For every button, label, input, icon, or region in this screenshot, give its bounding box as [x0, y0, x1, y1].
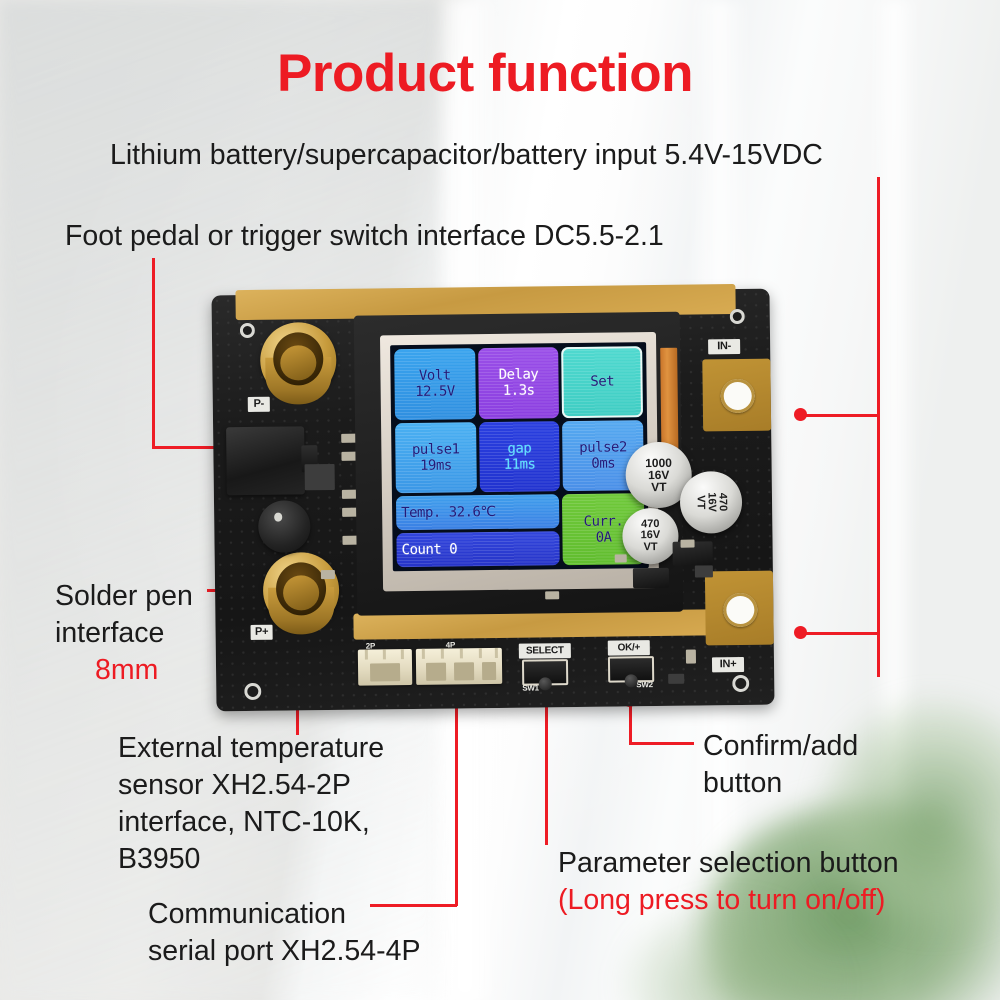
solder-pen-jack-positive[interactable] [263, 552, 340, 629]
annotation-temperature-sensor: External temperature sensor XH2.54-2P in… [118, 730, 384, 878]
silk-label-in-minus: IN- [708, 339, 740, 354]
jst-tooth [365, 650, 368, 660]
pcb-board: P- P+ IN- IN+ 2P 4P SW1 SW2 [211, 289, 774, 712]
jst-slot [454, 663, 474, 681]
lcd-cell-pulse1[interactable]: pulse1 19ms [395, 422, 477, 494]
lcd-row-1: Volt 12.5V Delay 1.3s Set [394, 346, 643, 420]
smd-part-b [615, 554, 627, 562]
jst-tooth [383, 649, 386, 659]
smd-part-f [668, 674, 684, 684]
mount-hole-bottom-left [244, 683, 261, 700]
leader-input-voltage-branch-bottom [800, 632, 879, 635]
lcd-cell-set[interactable]: Set [561, 346, 643, 418]
jst-slot [426, 663, 446, 681]
infographic-canvas: Product function Lithium battery/superca… [0, 0, 1000, 1000]
lcd-cell-pulse1-label: pulse1 [412, 441, 460, 458]
leader-input-voltage-vertical [877, 177, 880, 677]
capacitor-1000uf-label: 1000 16V VT [645, 456, 672, 493]
jst-tooth [422, 649, 425, 659]
jst-tooth [441, 649, 444, 659]
silk-label-p-minus: P- [248, 397, 270, 412]
mount-hole-bottom-right [732, 675, 749, 692]
jst-tooth [479, 648, 482, 658]
lcd-screen[interactable]: Volt 12.5V Delay 1.3s Set pulse1 19ms [390, 342, 649, 571]
leader-ok-horizontal [629, 742, 694, 745]
lcd-cell-volt-value: 12.5V [415, 384, 455, 400]
lcd-cell-pulse2-value: 0ms [591, 456, 615, 472]
leader-dot-in-plus [794, 626, 807, 639]
lcd-cell-gap[interactable]: gap 11ms [479, 421, 561, 493]
select-button[interactable] [522, 659, 568, 686]
leader-foot-pedal-vertical [152, 258, 155, 448]
mount-hole-top-left [240, 323, 255, 338]
jst-tooth [401, 649, 404, 659]
lcd-cell-temp[interactable]: Temp. 32.6℃ [396, 495, 560, 531]
lcd-cell-gap-label: gap [507, 441, 531, 457]
pad-hole-in-minus [721, 379, 755, 413]
leader-dot-in-minus [794, 408, 807, 421]
capacitor-470uf-a-label: 470 16V VT [640, 519, 660, 553]
smd-resistor-6 [321, 570, 335, 579]
lcd-cell-pulse1-value: 19ms [420, 458, 452, 474]
mount-hole-top-right [730, 309, 745, 324]
communication-connector-4p[interactable] [416, 648, 502, 685]
annotation-input-voltage: Lithium battery/supercapacitor/battery i… [110, 137, 823, 174]
capacitor-470uf-b-label: 470 16V VT [694, 492, 728, 512]
annotation-parameter-button: Parameter selection button [558, 845, 899, 882]
smd-part-c [695, 565, 713, 577]
lcd-cell-volt[interactable]: Volt 12.5V [394, 348, 476, 420]
annotation-solder-pen-line2: interface [55, 615, 164, 652]
annotation-communication: Communication serial port XH2.54-4P [148, 896, 420, 970]
lcd-cell-count-label: Count 0 [402, 542, 458, 559]
page-title: Product function [277, 43, 693, 104]
lcd-cell-pulse2-label: pulse2 [579, 439, 627, 456]
dc-jack-pad [305, 464, 335, 490]
smd-part-a [680, 540, 694, 548]
ok-add-button[interactable] [608, 656, 654, 683]
smd-part-e [686, 650, 696, 664]
solder-pen-jack-negative[interactable] [260, 322, 337, 399]
annotation-confirm-button: Confirm/add button [703, 728, 858, 802]
select-button-plunger[interactable] [539, 677, 552, 690]
jst-slot [482, 662, 496, 679]
lcd-cell-current-value: 0A [596, 529, 612, 545]
lcd-cell-delay-label: Delay [499, 367, 539, 383]
leader-input-voltage-branch-top [800, 414, 879, 417]
leader-select-vertical [545, 700, 548, 845]
annotation-solder-pen-size: 8mm [95, 652, 158, 689]
silk-label-ok: OK/+ [608, 640, 650, 656]
jack-bore-inner [280, 345, 317, 380]
lcd-cell-delay[interactable]: Delay 1.3s [478, 347, 560, 419]
jst-slot [370, 664, 400, 682]
annotation-foot-pedal: Foot pedal or trigger switch interface D… [65, 218, 664, 255]
jst-tooth [495, 648, 498, 658]
annotation-solder-pen-line1: Solder pen [55, 578, 193, 615]
lcd-cell-temp-label: Temp. 32.6℃ [401, 504, 496, 521]
jack-bore-inner [283, 575, 320, 610]
lcd-cell-volt-label: Volt [419, 368, 451, 384]
lcd-cell-delay-value: 1.3s [503, 383, 535, 399]
lcd-cell-count[interactable]: Count 0 [396, 531, 560, 567]
temperature-sensor-connector-2p[interactable] [358, 649, 412, 686]
mosfet-2 [633, 568, 669, 588]
dc-barrel-jack[interactable] [226, 426, 305, 495]
buzzer-vent [274, 513, 282, 521]
smd-part-d [545, 591, 559, 599]
leader-comm-horizontal [370, 904, 457, 907]
lcd-cell-current-label: Curr. [584, 513, 624, 529]
lcd-row-2: pulse1 19ms gap 11ms pulse2 0ms [395, 420, 644, 494]
lcd-cell-gap-value: 11ms [504, 456, 536, 472]
lcd-row-3: Temp. 32.6℃ Count 0 Curr. 0A [396, 493, 645, 567]
annotation-parameter-button-note: (Long press to turn on/off) [558, 882, 885, 919]
silk-label-in-plus: IN+ [712, 657, 744, 672]
silk-label-select: SELECT [519, 643, 571, 659]
lcd-cell-set-label: Set [590, 374, 614, 390]
lcd-left-stack: Temp. 32.6℃ Count 0 [396, 495, 560, 568]
jst-tooth [460, 648, 463, 658]
ok-button-plunger[interactable] [625, 674, 638, 687]
